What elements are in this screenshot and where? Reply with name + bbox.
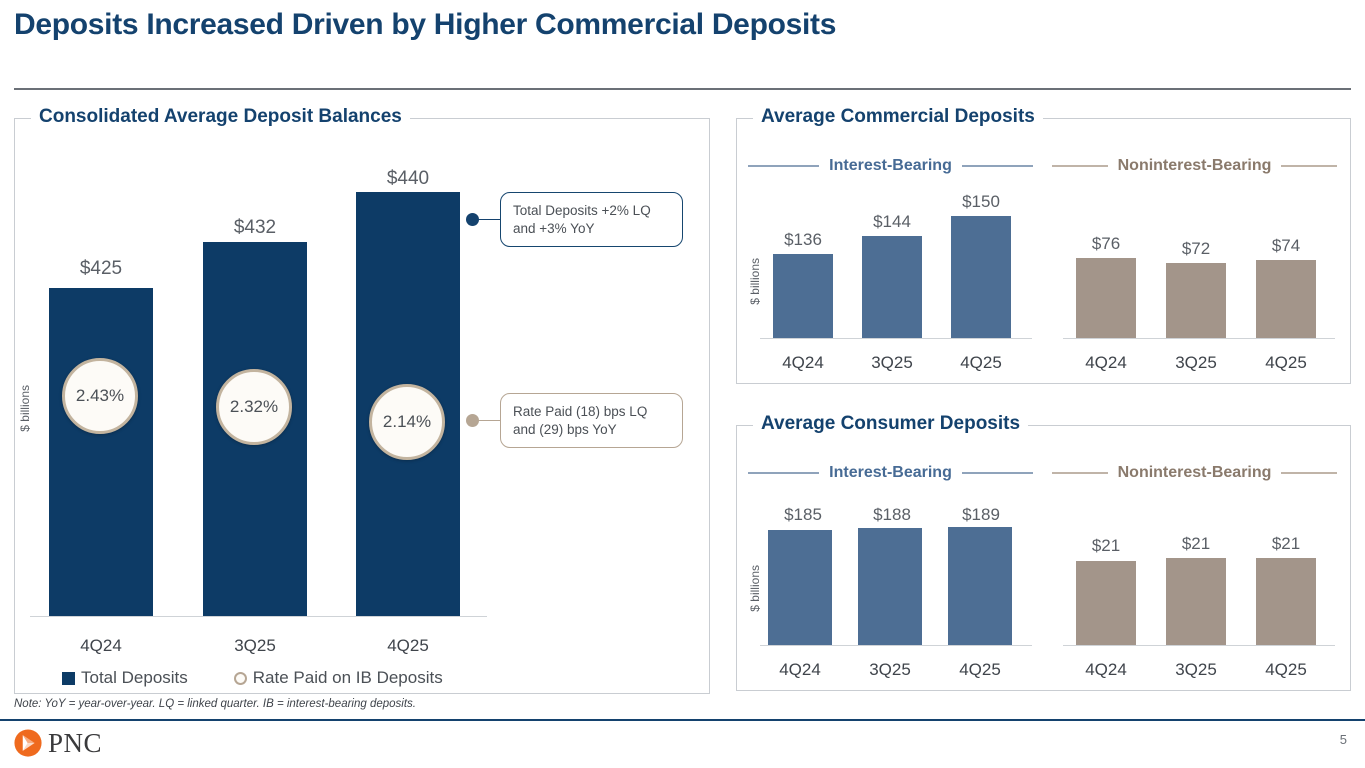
bar-value-label: $74: [1248, 236, 1324, 256]
bar-commercial-ib-4q25: [951, 216, 1011, 338]
commercial-ib-x-tick: 3Q25: [853, 353, 931, 373]
pnc-logo-text: PNC: [48, 730, 102, 757]
legend-swatch-square-icon: [62, 672, 75, 685]
bar-consumer-ib-4q25: [948, 527, 1012, 645]
rate-paid-value: 2.14%: [383, 412, 431, 432]
bar-consumer-ib-4q24: [768, 530, 832, 645]
subhead-rule-right: [962, 472, 1033, 474]
footnote: Note: YoY = year-over-year. LQ = linked …: [14, 698, 416, 710]
consumer-nib-x-tick: 3Q25: [1158, 660, 1234, 680]
bar-value-label: $21: [1068, 536, 1144, 556]
subhead-rule-left: [748, 472, 819, 474]
panel-title-consolidated: Consolidated Average Deposit Balances: [31, 106, 410, 128]
commercial-nib-x-tick: 4Q24: [1068, 353, 1144, 373]
page-title: Deposits Increased Driven by Higher Comm…: [14, 8, 836, 42]
slide-root: Deposits Increased Driven by Higher Comm…: [0, 0, 1365, 768]
callout-rate-paid: Rate Paid (18) bps LQ and (29) bps YoY: [500, 393, 683, 448]
footer-divider: [0, 719, 1365, 721]
consumer-ib-x-tick: 4Q25: [941, 660, 1019, 680]
consumer-ib-baseline: [760, 645, 1032, 646]
left-chart-y-axis-label: $ billions: [18, 385, 32, 432]
rate-paid-value: 2.32%: [230, 397, 278, 417]
subhead-rule-right: [1281, 472, 1337, 474]
panel-title-commercial: Average Commercial Deposits: [753, 106, 1043, 128]
subhead-rule-left: [1052, 472, 1108, 474]
subhead-consumer-interest-bearing: Interest-Bearing: [748, 464, 1033, 482]
title-divider: [14, 88, 1351, 90]
bar-total-deposits-4q24: [49, 288, 153, 616]
rate-paid-circle-3q25: 2.32%: [216, 369, 292, 445]
callout-total-deposits: Total Deposits +2% LQ and +3% YoY: [500, 192, 683, 247]
subhead-label: Noninterest-Bearing: [1108, 464, 1282, 482]
subhead-rule-left: [1052, 165, 1108, 167]
pnc-logo: PNC: [14, 729, 102, 757]
bar-value-label: $21: [1158, 534, 1234, 554]
bar-value-label: $76: [1068, 234, 1144, 254]
consumer-nib-baseline: [1063, 645, 1335, 646]
subhead-rule-left: [748, 165, 819, 167]
rate-paid-circle-4q25: 2.14%: [369, 384, 445, 460]
bar-commercial-ib-4q24: [773, 254, 833, 338]
commercial-chart-y-axis-label: $ billions: [748, 258, 762, 305]
bar-commercial-nib-3q25: [1166, 263, 1226, 338]
bar-value-label: $189: [942, 505, 1020, 525]
bar-value-label: $425: [47, 258, 155, 280]
consumer-ib-x-tick: 3Q25: [851, 660, 929, 680]
commercial-nib-baseline: [1063, 338, 1335, 339]
bar-consumer-nib-4q25: [1256, 558, 1316, 645]
bar-value-label: $185: [764, 505, 842, 525]
consumer-ib-x-tick: 4Q24: [761, 660, 839, 680]
subhead-label: Interest-Bearing: [819, 157, 962, 175]
commercial-ib-baseline: [760, 338, 1032, 339]
commercial-ib-x-tick: 4Q24: [764, 353, 842, 373]
commercial-nib-x-tick: 3Q25: [1158, 353, 1234, 373]
callout-leader-line-navy: [478, 219, 500, 220]
bar-commercial-nib-4q24: [1076, 258, 1136, 338]
bar-consumer-nib-4q24: [1076, 561, 1136, 645]
bar-value-label: $144: [853, 212, 931, 232]
subhead-consumer-noninterest-bearing: Noninterest-Bearing: [1052, 464, 1337, 482]
callout-leader-line-tan: [478, 420, 500, 421]
subhead-rule-right: [1281, 165, 1337, 167]
bar-value-label: $150: [942, 192, 1020, 212]
consumer-nib-x-tick: 4Q25: [1248, 660, 1324, 680]
bar-commercial-nib-4q25: [1256, 260, 1316, 338]
bar-value-label: $432: [201, 217, 309, 239]
consumer-chart-y-axis-label: $ billions: [748, 565, 762, 612]
bar-consumer-ib-3q25: [858, 528, 922, 645]
page-number: 5: [1340, 732, 1347, 747]
bar-commercial-ib-3q25: [862, 236, 922, 338]
rate-paid-value: 2.43%: [76, 386, 124, 406]
bar-value-label: $21: [1248, 534, 1324, 554]
panel-title-consumer: Average Consumer Deposits: [753, 413, 1028, 435]
left-x-tick: 3Q25: [201, 636, 309, 656]
legend-label: Total Deposits: [81, 668, 188, 688]
left-chart-legend: Total Deposits Rate Paid on IB Deposits: [62, 668, 443, 688]
subhead-commercial-interest-bearing: Interest-Bearing: [748, 157, 1033, 175]
left-x-tick: 4Q24: [47, 636, 155, 656]
subhead-label: Noninterest-Bearing: [1108, 157, 1282, 175]
bar-value-label: $440: [354, 168, 462, 190]
left-chart-baseline: [30, 616, 487, 617]
bar-value-label: $72: [1158, 239, 1234, 259]
rate-paid-circle-4q24: 2.43%: [62, 358, 138, 434]
subhead-rule-right: [962, 165, 1033, 167]
legend-item-total-deposits: Total Deposits: [62, 668, 188, 688]
bar-value-label: $188: [853, 505, 931, 525]
left-x-tick: 4Q25: [354, 636, 462, 656]
bar-value-label: $136: [764, 230, 842, 250]
legend-label: Rate Paid on IB Deposits: [253, 668, 443, 688]
bar-consumer-nib-3q25: [1166, 558, 1226, 645]
subhead-commercial-noninterest-bearing: Noninterest-Bearing: [1052, 157, 1337, 175]
commercial-ib-x-tick: 4Q25: [942, 353, 1020, 373]
commercial-nib-x-tick: 4Q25: [1248, 353, 1324, 373]
subhead-label: Interest-Bearing: [819, 464, 962, 482]
legend-item-rate-paid: Rate Paid on IB Deposits: [234, 668, 443, 688]
pnc-logo-icon: [14, 729, 42, 757]
consumer-nib-x-tick: 4Q24: [1068, 660, 1144, 680]
legend-swatch-circle-icon: [234, 672, 247, 685]
